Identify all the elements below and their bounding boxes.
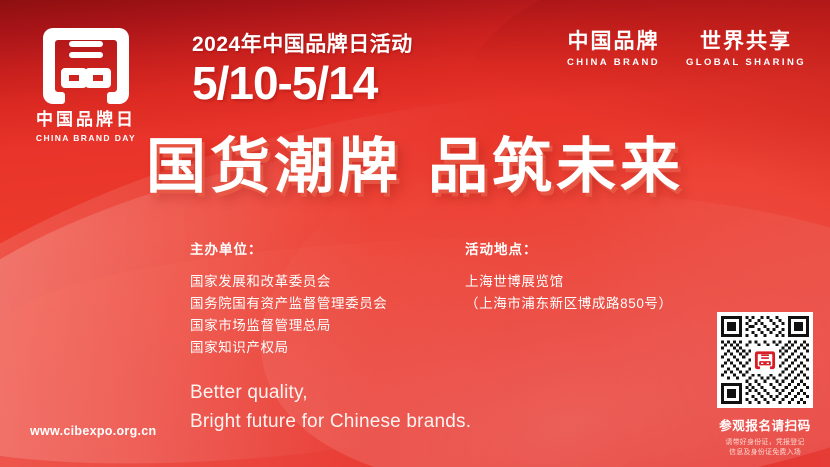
venue-label: 活动地点： <box>465 238 765 258</box>
logo-cn-text: 中国品牌日 <box>22 111 150 130</box>
qr-title: 参观报名请扫码 <box>712 415 818 434</box>
qr-note-line-1: 请带好身份证，凭报登记 <box>712 438 818 448</box>
organizer-item: 国家知识产权局 <box>190 337 465 359</box>
website-url[interactable]: www.cibexpo.org.cn <box>30 424 156 438</box>
organizer-item: 国家市场监督管理总局 <box>190 315 465 337</box>
qr-registration-block: 参观报名请扫码 请带好身份证，凭报登记 信息及身份证免费入场 <box>712 312 818 458</box>
qr-note-line-2: 信息及身份证免费入场 <box>712 448 818 458</box>
main-headline: 国货潮牌品筑未来 <box>0 137 830 197</box>
china-brand-day-pin-mark-icon <box>39 24 133 106</box>
lockup-china-brand: 中国品牌 CHINA BRAND <box>567 30 660 68</box>
brand-logo: 中国品牌日 CHINA BRAND DAY <box>22 24 150 143</box>
tagline-line-1: Better quality, <box>190 378 471 407</box>
organizer-item: 国务院国有资产监督管理委员会 <box>190 293 465 315</box>
info-columns: 主办单位： 国家发展和改革委员会 国务院国有资产监督管理委员会 国家市场监督管理… <box>190 238 765 358</box>
organizer-column: 主办单位： 国家发展和改革委员会 国务院国有资产监督管理委员会 国家市场监督管理… <box>190 238 465 358</box>
organizer-label: 主办单位： <box>190 238 465 258</box>
headline-part-1: 国货潮牌 <box>146 133 402 200</box>
lockup-right-cn: 世界共享 <box>686 30 806 54</box>
qr-center-logo-icon <box>751 346 779 374</box>
event-date-range: 5/10-5/14 <box>192 60 413 106</box>
qr-note: 请带好身份证，凭报登记 信息及身份证免费入场 <box>712 438 818 458</box>
lockup-left-en: CHINA BRAND <box>567 57 660 68</box>
event-date-block: 2024年中国品牌日活动 5/10-5/14 <box>192 28 413 106</box>
tagline-line-2: Bright future for Chinese brands. <box>190 407 471 436</box>
headline-part-2: 品筑未来 <box>428 133 684 200</box>
lockup-global-sharing: 世界共享 GLOBAL SHARING <box>686 30 806 68</box>
poster-canvas: 中国品牌日 CHINA BRAND DAY 2024年中国品牌日活动 5/10-… <box>0 0 830 467</box>
event-title-line: 2024年中国品牌日活动 <box>192 28 413 58</box>
venue-item: 上海世博展览馆 <box>465 271 765 293</box>
brand-slogan-lockup: 中国品牌 CHINA BRAND 世界共享 GLOBAL SHARING <box>567 30 806 68</box>
english-tagline: Better quality, Bright future for Chines… <box>190 378 471 437</box>
lockup-left-cn: 中国品牌 <box>567 30 660 54</box>
qr-code-icon[interactable] <box>717 312 813 408</box>
lockup-right-en: GLOBAL SHARING <box>686 57 806 68</box>
organizer-item: 国家发展和改革委员会 <box>190 271 465 293</box>
